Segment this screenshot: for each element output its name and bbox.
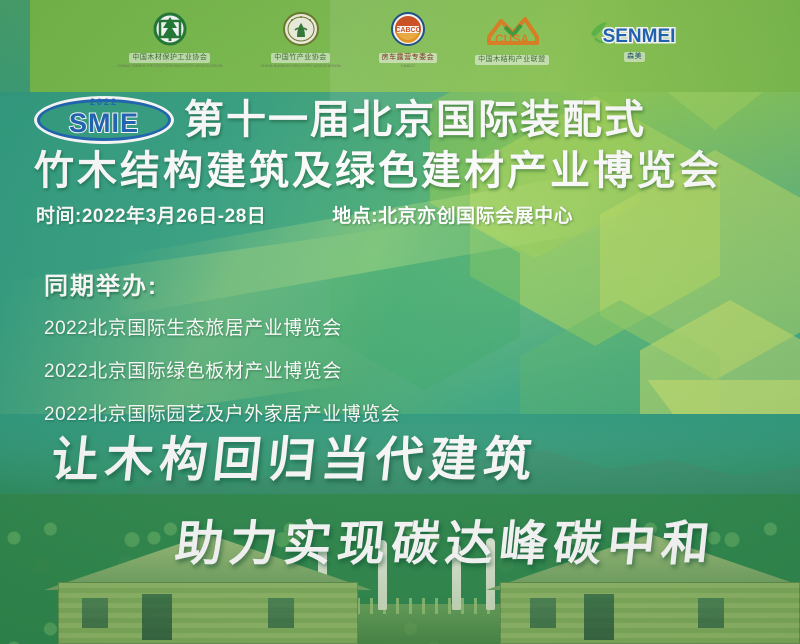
slogan-line-2: 助力实现碳达峰碳中和 — [172, 504, 800, 574]
sponsor-logo-senmei[interactable]: SENMEI 森美 — [587, 16, 683, 62]
headline-block: 2022 SMIE 第十一届北京国际装配式 竹木结构建筑及绿色建材产业博览会 — [34, 96, 774, 196]
cabin-door — [584, 594, 614, 640]
svg-text:CUSA: CUSA — [495, 32, 529, 46]
event-meta: 时间:2022年3月26日-28日 地点:北京亦创国际会展中心 — [36, 201, 573, 228]
svg-text:SENMEI: SENMEI — [602, 26, 675, 47]
event-date: 时间:2022年3月26日-28日 — [36, 201, 266, 228]
svg-text:CABCC: CABCC — [395, 27, 420, 34]
slogan-line-1: 让木构回归当代建筑 — [48, 420, 800, 490]
smie-logo-year: 2022 — [34, 97, 174, 107]
sponsor-logo-cusa[interactable]: CUSA 中国木结构产业联盟 — [475, 13, 549, 65]
concurrent-item: 2022北京国际生态旅居产业博览会 — [44, 313, 400, 340]
sponsor-name: 森美 — [624, 52, 645, 62]
exhibition-poster: 中国木材保护工业协会 CHINA TIMBER PROTECTION INDUS… — [0, 0, 800, 644]
sponsor-name: 中国竹产业协会 — [271, 53, 330, 63]
concurrent-heading: 同期举办: — [44, 266, 400, 301]
cabin-window — [698, 598, 724, 628]
tree-shield-icon — [148, 11, 192, 51]
cabin-window — [82, 598, 108, 628]
cabin-door — [142, 594, 172, 640]
smie-logo-text: SMIE — [34, 108, 174, 139]
sponsor-name: 房车露营专委会 — [379, 53, 438, 63]
sponsor-subtitle: CHINA TIMBER PROTECTION INDUSTRY ASSOCIA… — [117, 63, 222, 68]
sponsor-subtitle: CABCC — [401, 63, 415, 68]
sponsor-name: 中国木材保护工业协会 — [129, 53, 210, 63]
concurrent-events-block: 同期举办: 2022北京国际生态旅居产业博览会 2022北京国际绿色板材产业博览… — [44, 266, 400, 442]
title-line-1: 第十一届北京国际装配式 — [184, 97, 646, 143]
cabin-window — [530, 598, 556, 628]
sponsor-logo-timber-protection[interactable]: 中国木材保护工业协会 CHINA TIMBER PROTECTION INDUS… — [117, 11, 222, 68]
sponsor-name: 中国木结构产业联盟 — [475, 55, 549, 65]
concurrent-item: 2022北京国际绿色板材产业博览会 — [44, 356, 400, 383]
senmei-wordmark-icon: SENMEI — [587, 16, 683, 50]
slogan-block: 让木构回归当代建筑 助力实现碳达峰碳中和 — [0, 420, 800, 574]
bamboo-seal-icon — [280, 11, 322, 51]
cabcc-badge-icon: CABCC — [387, 11, 429, 51]
sponsor-logo-bamboo[interactable]: 中国竹产业协会 CHINA BAMBOO INDUSTRY ASSOCIATIO… — [260, 11, 340, 68]
house-cusa-icon: CUSA — [483, 13, 541, 53]
smie-logo: 2022 SMIE — [34, 96, 174, 144]
sponsor-logo-row: 中国木材保护工业协会 CHINA TIMBER PROTECTION INDUS… — [0, 8, 800, 70]
event-venue: 地点:北京亦创国际会展中心 — [332, 201, 573, 228]
cabin-window — [268, 598, 294, 628]
title-line-2: 竹木结构建筑及绿色建材产业博览会 — [34, 146, 774, 196]
sponsor-subtitle: CHINA BAMBOO INDUSTRY ASSOCIATION — [260, 63, 340, 68]
sponsor-logo-cabcc[interactable]: CABCC 房车露营专委会 CABCC — [379, 11, 438, 68]
